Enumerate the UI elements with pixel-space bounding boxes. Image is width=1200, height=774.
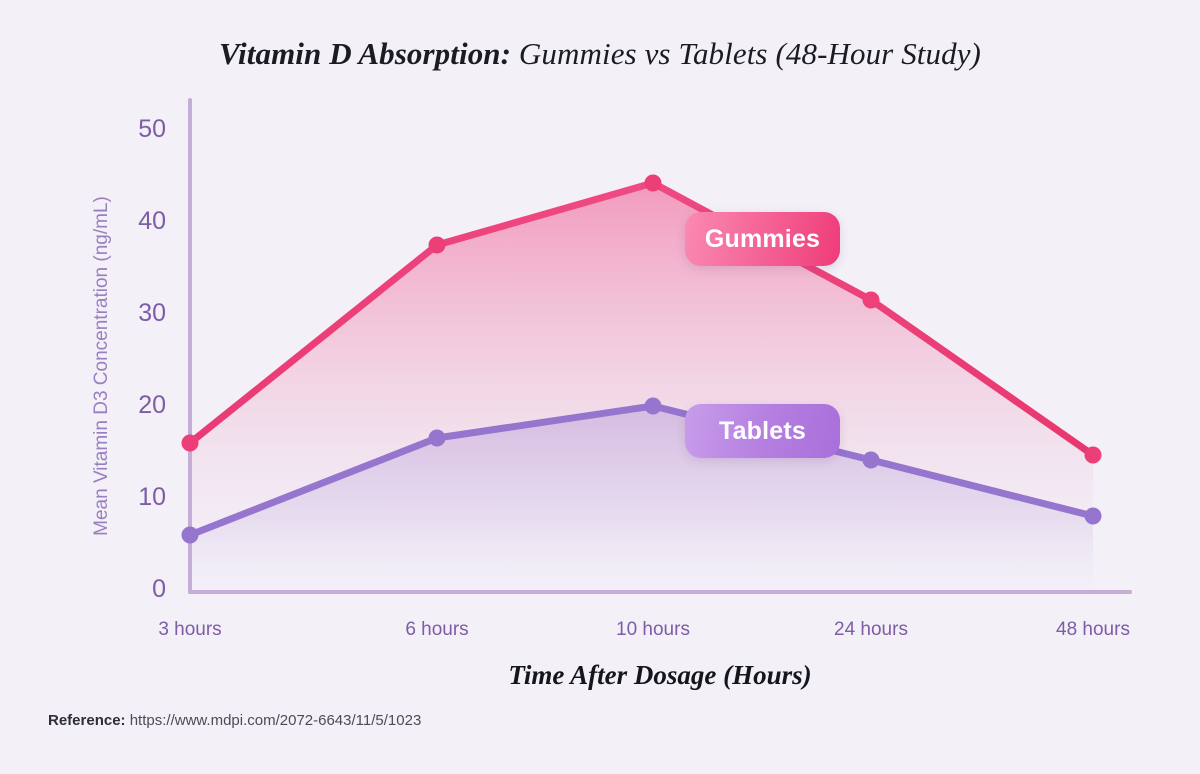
gummies-data-point[interactable] bbox=[182, 435, 199, 452]
x-tick-label-3-hours: 3 hours bbox=[100, 620, 280, 639]
x-axis-title: Time After Dosage (Hours) bbox=[190, 660, 1130, 691]
x-tick-label-10-hours: 10 hours bbox=[563, 620, 743, 639]
gummies-data-point[interactable] bbox=[1085, 447, 1102, 464]
y-axis-title: Mean Vitamin D3 Concentration (ng/mL) bbox=[91, 116, 113, 616]
tablets-data-point[interactable] bbox=[1085, 508, 1102, 525]
gummies-data-point[interactable] bbox=[429, 237, 446, 254]
gummies-data-point[interactable] bbox=[645, 175, 662, 192]
line-chart-svg bbox=[0, 0, 1200, 700]
reference-label: Reference: bbox=[48, 712, 126, 729]
tablets-data-point[interactable] bbox=[182, 527, 199, 544]
gummies-data-point[interactable] bbox=[863, 292, 880, 309]
y-tick-label-10: 10 bbox=[108, 485, 166, 510]
y-tick-label-40: 40 bbox=[108, 209, 166, 234]
tablets-data-point[interactable] bbox=[863, 452, 880, 469]
legend-pill-tablets[interactable]: Tablets bbox=[685, 404, 840, 458]
legend-pill-tablets-label: Tablets bbox=[719, 417, 806, 446]
reference-line: Reference: https://www.mdpi.com/2072-664… bbox=[48, 712, 421, 729]
x-tick-label-6-hours: 6 hours bbox=[347, 620, 527, 639]
legend-pill-gummies[interactable]: Gummies bbox=[685, 212, 840, 266]
tablets-data-point[interactable] bbox=[645, 398, 662, 415]
x-tick-label-48-hours: 48 hours bbox=[1003, 620, 1183, 639]
legend-pill-gummies-label: Gummies bbox=[705, 225, 820, 254]
y-tick-label-0: 0 bbox=[108, 577, 166, 602]
chart-card: Vitamin D Absorption: Gummies vs Tablets… bbox=[0, 0, 1200, 774]
y-tick-label-30: 30 bbox=[108, 301, 166, 326]
tablets-data-point[interactable] bbox=[429, 430, 446, 447]
x-tick-label-24-hours: 24 hours bbox=[781, 620, 961, 639]
y-tick-label-20: 20 bbox=[108, 393, 166, 418]
reference-url[interactable]: https://www.mdpi.com/2072-6643/11/5/1023 bbox=[130, 712, 422, 729]
y-tick-label-50: 50 bbox=[108, 117, 166, 142]
plot-area: Mean Vitamin D3 Concentration (ng/mL) 50… bbox=[0, 0, 1200, 700]
